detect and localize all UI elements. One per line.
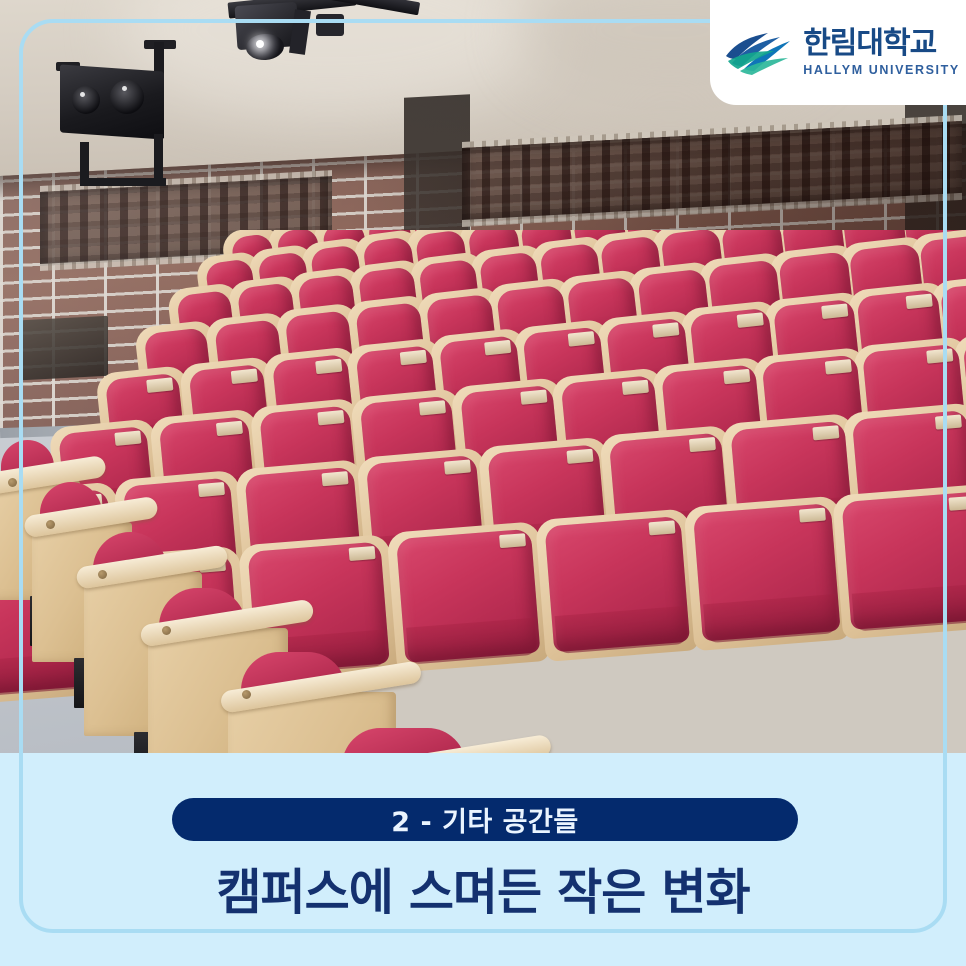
wall-speaker-icon	[58, 42, 178, 152]
seat-number-tag	[949, 495, 966, 510]
armrest-screw	[8, 478, 17, 487]
seat-number-tag	[231, 368, 258, 384]
seat-number-tag	[927, 348, 954, 363]
auditorium-seat	[693, 504, 840, 642]
armrest-screw	[98, 570, 107, 579]
seat-number-tag	[317, 410, 344, 425]
caption-band: 2 - 기타 공간들 캠퍼스에 스며든 작은 변화	[0, 753, 966, 966]
seat-number-tag	[216, 420, 243, 435]
seat-number-tag	[935, 414, 962, 429]
seat-number-tag	[622, 379, 649, 394]
seat-number-tag	[689, 437, 716, 452]
seat-number-tag	[521, 389, 548, 404]
seat-number-tag	[399, 350, 426, 366]
seat-number-tag	[799, 508, 826, 523]
hallym-university-logo: 한림대학교 HALLYM UNIVERSITY	[710, 0, 966, 105]
armrest-screw	[162, 626, 171, 635]
campus-photo-card: 한림대학교 HALLYM UNIVERSITY 2 - 기타 공간들 캠퍼스에 …	[0, 0, 966, 966]
seat-number-tag	[349, 546, 376, 561]
seat-number-tag	[724, 369, 751, 384]
auditorium-seat	[396, 529, 540, 663]
logo-english-name: HALLYM UNIVERSITY	[803, 64, 960, 77]
page-title: 캠퍼스에 스며든 작은 변화	[0, 853, 966, 924]
seat-number-tag	[146, 377, 173, 393]
seat-number-tag	[825, 359, 852, 374]
armrest-screw	[46, 520, 55, 529]
armrest-screw	[242, 690, 251, 699]
red-auditorium-seats	[0, 230, 966, 753]
seat-number-tag	[649, 521, 676, 536]
seat-number-tag	[419, 400, 446, 415]
section-badge: 2 - 기타 공간들	[172, 798, 798, 841]
seat-number-tag	[499, 533, 526, 548]
seat-number-tag	[568, 331, 595, 347]
seat-number-tag	[114, 430, 141, 445]
section-badge-label: 2 - 기타 공간들	[391, 800, 578, 839]
auditorium-seat	[545, 516, 691, 652]
wave-mark-icon	[722, 29, 794, 77]
seat-number-tag	[321, 471, 348, 486]
seat-number-tag	[444, 460, 471, 475]
seat-number-tag	[652, 322, 679, 338]
auditorium-seat	[841, 491, 966, 630]
logo-korean-name: 한림대학교	[803, 29, 936, 59]
auditorium-photo	[0, 0, 966, 753]
seat-number-tag	[567, 448, 594, 463]
seat-number-tag	[821, 303, 848, 319]
